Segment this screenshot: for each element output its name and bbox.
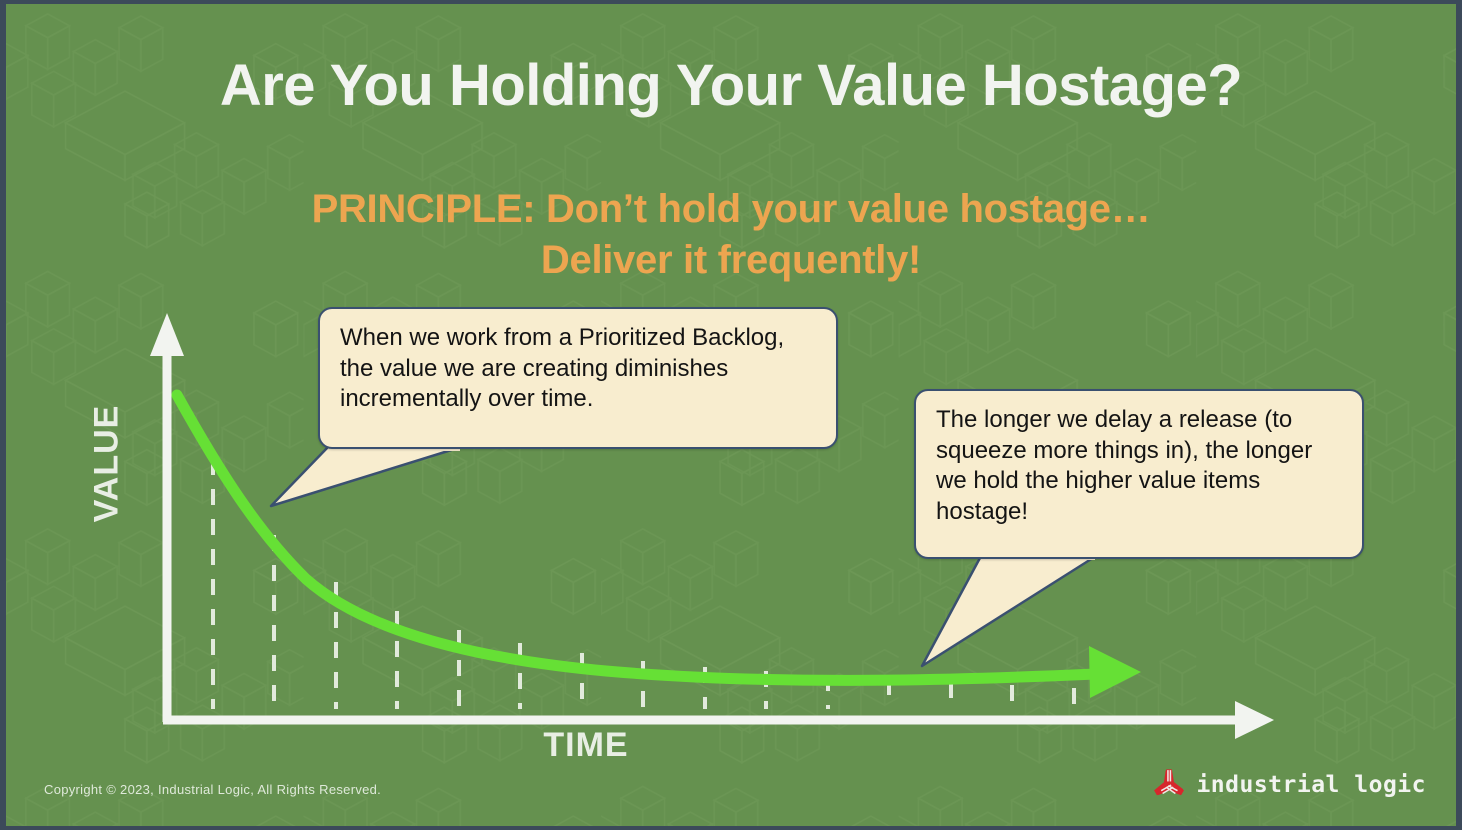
industrial-logic-pinwheel-icon bbox=[1152, 768, 1186, 802]
callout-1-tail bbox=[271, 447, 461, 506]
subtitle-line-1: PRINCIPLE: Don’t hold your value hostage… bbox=[312, 187, 1151, 231]
slide-canvas: Are You Holding Your Value Hostage? PRIN… bbox=[0, 0, 1462, 830]
y-axis bbox=[150, 313, 184, 722]
subtitle-line-2: Deliver it frequently! bbox=[6, 235, 1456, 286]
slide-title: Are You Holding Your Value Hostage? bbox=[6, 56, 1456, 117]
callout-2-tail bbox=[922, 556, 1096, 666]
callout-prioritized-backlog: When we work from a Prioritized Backlog,… bbox=[318, 307, 838, 449]
slide-subtitle: PRINCIPLE: Don’t hold your value hostage… bbox=[6, 184, 1456, 286]
callout-delayed-release: The longer we delay a release (to squeez… bbox=[914, 389, 1364, 559]
copyright-notice: Copyright © 2023, Industrial Logic, All … bbox=[44, 782, 381, 797]
industrial-logic-logo: industrial logic bbox=[1152, 768, 1426, 802]
y-axis-label: VALUE bbox=[88, 374, 127, 554]
x-axis-label: TIME bbox=[436, 726, 736, 765]
logo-wordmark: industrial logic bbox=[1196, 772, 1426, 798]
